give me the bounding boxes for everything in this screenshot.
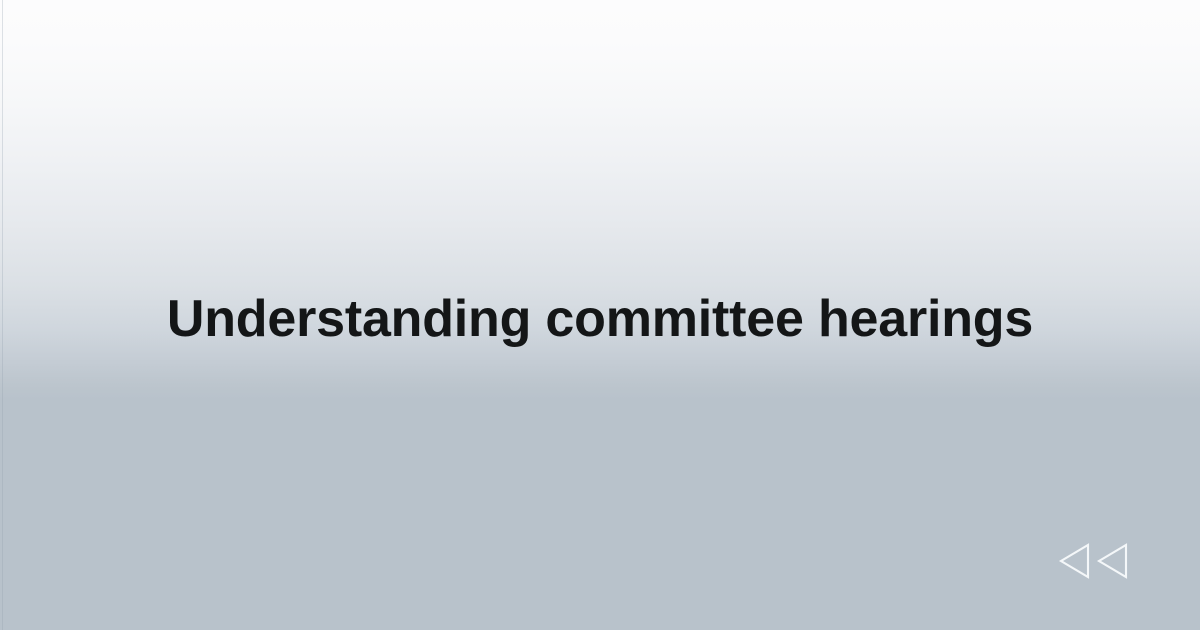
banner-canvas: Understanding committee hearings [0, 0, 1200, 630]
page-title: Understanding committee hearings [167, 288, 1033, 350]
title-container: Understanding committee hearings [0, 288, 1200, 350]
rewind-triangle-icon-2[interactable] [1096, 542, 1132, 580]
navigation-controls[interactable] [1058, 541, 1134, 581]
rewind-triangle-icon-1[interactable] [1058, 542, 1094, 580]
